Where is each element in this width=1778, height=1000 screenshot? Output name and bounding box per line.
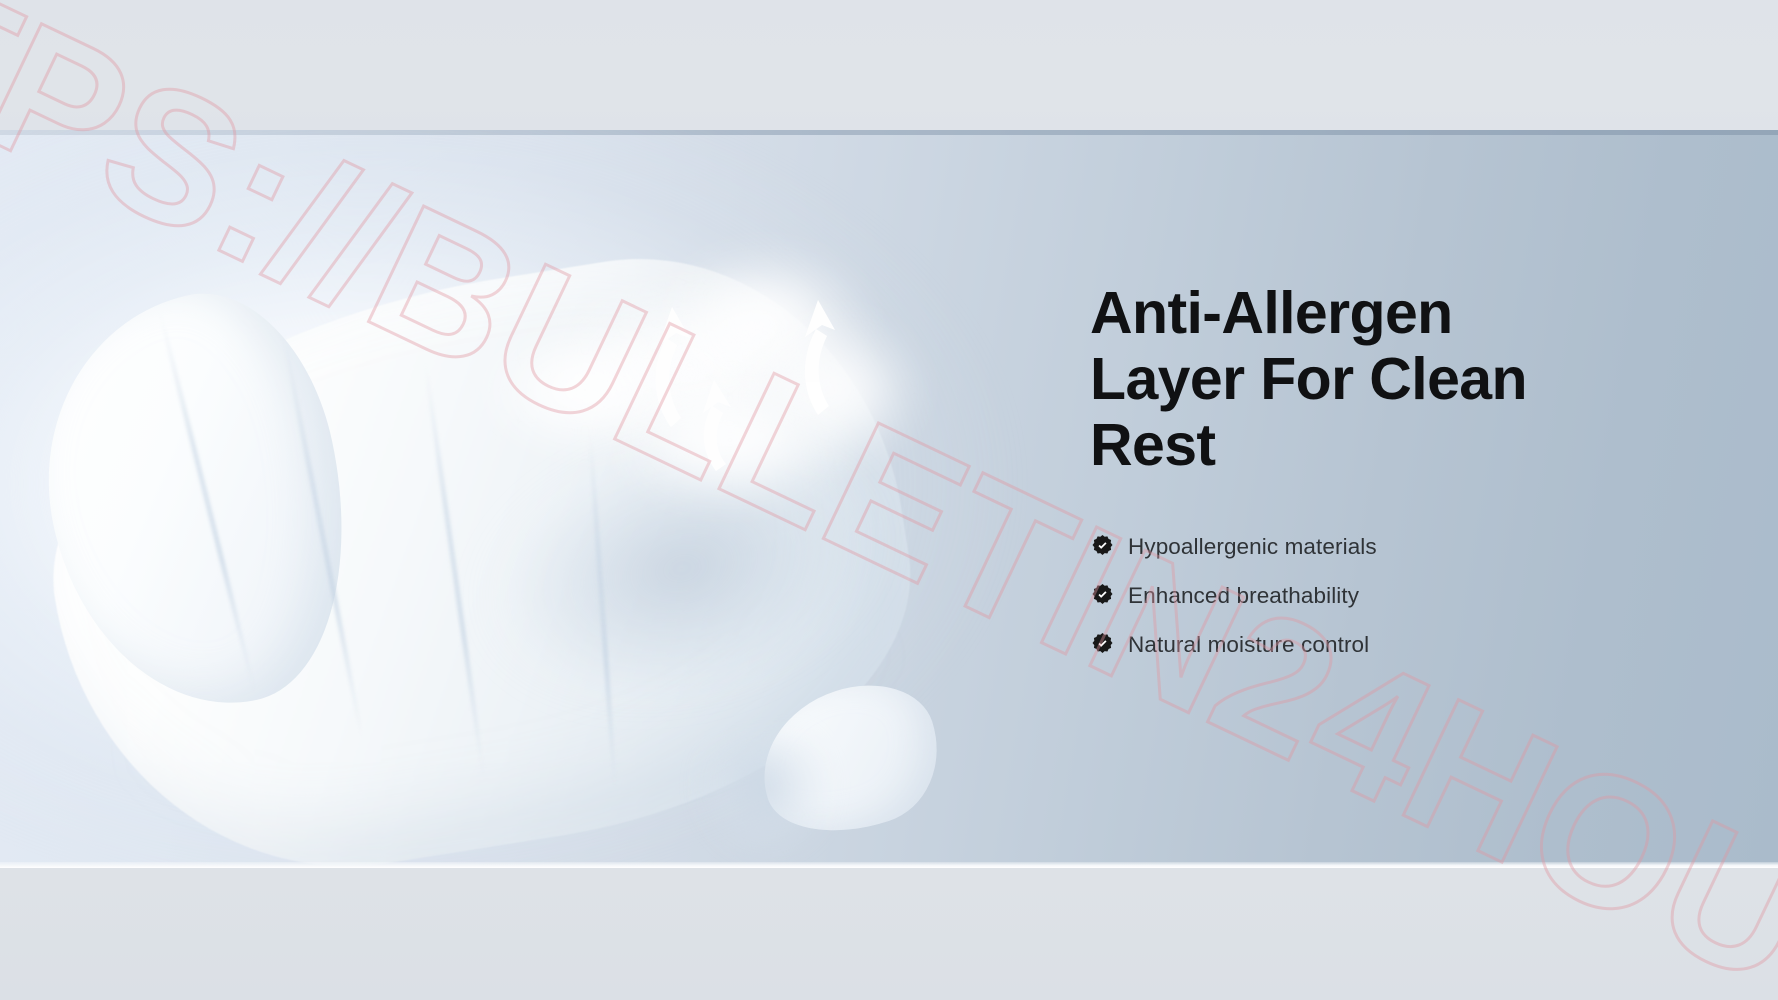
verified-badge-check-icon [1090, 632, 1115, 657]
feature-label: Natural moisture control [1128, 632, 1369, 658]
page-title: Anti-Allergen Layer For Clean Rest [1090, 280, 1710, 478]
pillow-image [0, 130, 1000, 868]
airflow-arrow-group [0, 130, 1000, 868]
feature-list: Hypoallergenic materials Enhanced breath… [1090, 522, 1710, 669]
feature-label: Enhanced breathability [1128, 583, 1359, 609]
headline-line-3: Rest [1090, 412, 1710, 478]
feature-label: Hypoallergenic materials [1128, 534, 1377, 560]
banner-bottom-edge [0, 862, 1778, 868]
airflow-arrow-1 [656, 307, 690, 427]
airflow-arrow-3 [805, 300, 835, 415]
headline-line-1: Anti-Allergen [1090, 280, 1710, 346]
verified-badge-check-icon [1090, 583, 1115, 608]
page-bottom-background [0, 868, 1778, 1000]
airflow-arrow-2 [703, 380, 731, 471]
headline-line-2: Layer For Clean [1090, 346, 1710, 412]
page-root: Anti-Allergen Layer For Clean Rest Hypoa… [0, 0, 1778, 1000]
list-item: Hypoallergenic materials [1090, 522, 1710, 571]
list-item: Natural moisture control [1090, 620, 1710, 669]
banner-copy-block: Anti-Allergen Layer For Clean Rest Hypoa… [1090, 280, 1710, 669]
product-feature-banner: Anti-Allergen Layer For Clean Rest Hypoa… [0, 130, 1778, 868]
list-item: Enhanced breathability [1090, 571, 1710, 620]
page-top-background [0, 0, 1778, 130]
verified-badge-check-icon [1090, 534, 1115, 559]
